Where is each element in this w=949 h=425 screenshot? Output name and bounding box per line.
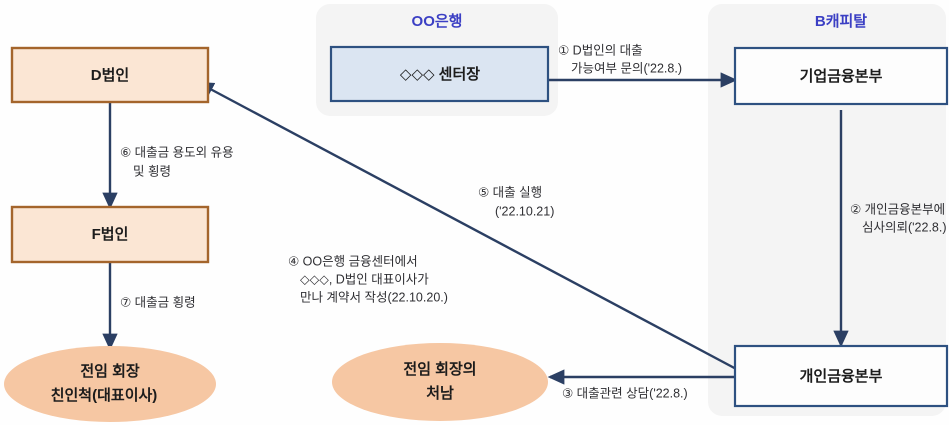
node-bank-center-head-label: ◇◇◇ 센터장 <box>400 65 480 83</box>
diagram-canvas: OO은행 B캐피탈 D법인 F법인 ◇◇◇ 센터장 기업금융본부 개인금융본부 … <box>0 0 949 425</box>
edge-label-step4-line3: 만나 계약서 작성(22.10.20.) <box>300 289 448 304</box>
edge-line-step5 <box>199 83 740 371</box>
node-relative-label-suffix: (대표이사) <box>92 387 157 404</box>
edge-label-step7-line1: ⑦ 대출금 횡령 <box>120 295 196 309</box>
capital-group-title: B캐피탈 <box>815 13 867 30</box>
edge-label-step1-line2: 가능여부 문의('22.8.) <box>571 61 682 75</box>
node-relative-label-line1: 전임 회장 <box>80 362 140 380</box>
edge-label-step1-line1: ① D법인의 대출 <box>558 43 643 57</box>
edge-label-step5-line1: ⑤ 대출 실행 <box>478 184 542 199</box>
edge-label-step3-line1: ③ 대출관련 상담('22.8.) <box>562 386 688 400</box>
bank-group-title: OO은행 <box>412 13 463 30</box>
node-brother-in-law-label-line2: 처남 <box>426 385 454 402</box>
edge-label-step2-line2: 심사의뢰('22.8.) <box>862 220 947 234</box>
edge-label-step6-line2: 및 횡령 <box>133 164 171 178</box>
edge-label-step2-line1: ② 개인금융본부에 <box>850 202 945 216</box>
node-brother-in-law-label-line1: 전임 회장의 <box>403 360 476 378</box>
node-relative-label-main: 친인척 <box>51 386 92 404</box>
edge-label-step4-line1: ④ OO은행 금융센터에서 <box>288 253 418 268</box>
edge-label-step6-line1: ⑥ 대출금 용도외 유용 <box>120 145 234 159</box>
node-brother-in-law-ellipse[interactable] <box>332 343 548 421</box>
edge-label-step5-line2: ('22.10.21) <box>495 204 554 218</box>
loan-fraud-flow-diagram: OO은행 B캐피탈 D법인 F법인 ◇◇◇ 센터장 기업금융본부 개인금융본부 … <box>0 0 949 425</box>
node-corp-finance-hq-label: 기업금융본부 <box>800 68 883 85</box>
node-f-corp-label: F법인 <box>92 225 129 243</box>
node-personal-finance-hq-label: 개인금융본부 <box>800 367 883 385</box>
node-relative-label-line2: 친인척(대표이사) <box>51 386 158 404</box>
node-relative-ellipse[interactable] <box>4 346 216 422</box>
node-d-corp-label: D법인 <box>91 66 129 84</box>
edge-label-step4-line2: ◇◇◇, D법인 대표이사가 <box>300 272 429 286</box>
